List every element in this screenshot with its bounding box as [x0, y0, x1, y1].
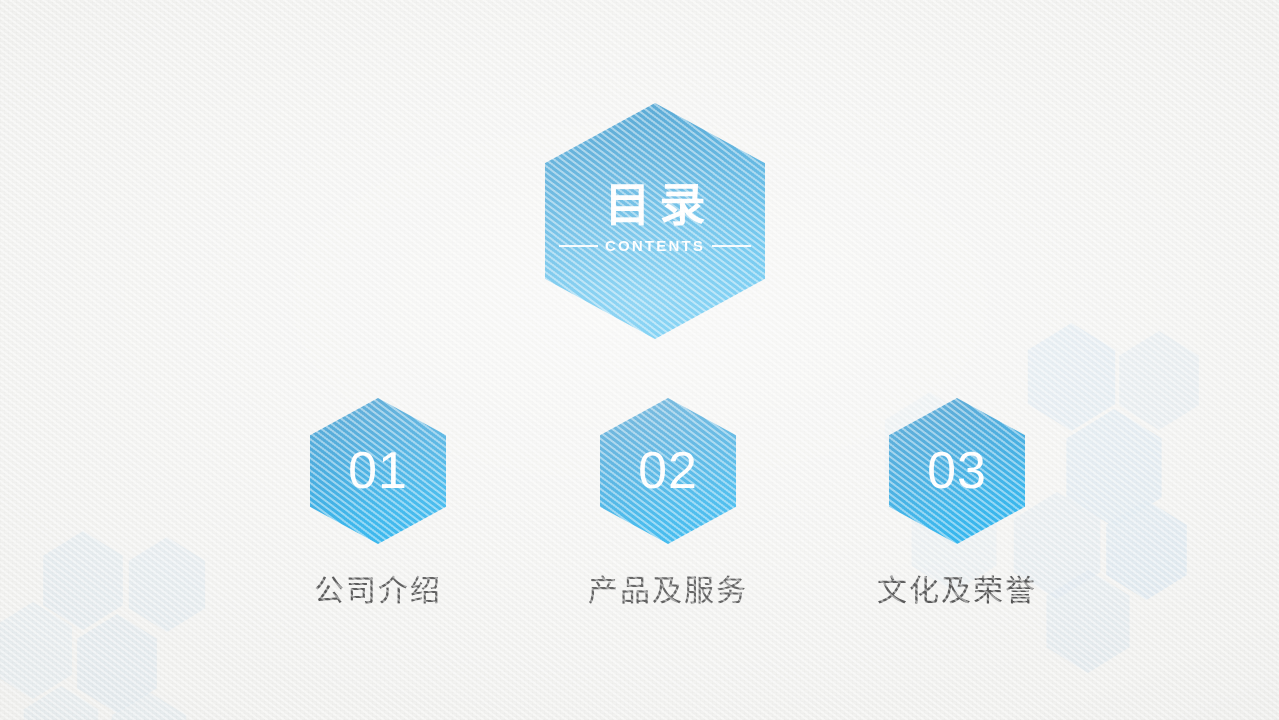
decor-hexagon — [123, 537, 211, 632]
rule-left-icon — [559, 245, 598, 247]
toc-item-03[interactable]: 03 文化及荣誉 — [862, 398, 1052, 610]
rule-right-icon — [712, 245, 751, 247]
toc-item-03-hexagon[interactable]: 03 — [889, 398, 1025, 544]
toc-item-03-label: 文化及荣誉 — [862, 566, 1052, 610]
slide-canvas: 目录 CONTENTS 01 公司介绍 02 产品及服务 03 文化及荣誉 — [0, 0, 1279, 720]
contents-hexagon-content: 目录 CONTENTS — [545, 103, 765, 339]
contents-hexagon[interactable]: 目录 CONTENTS — [545, 103, 765, 339]
toc-item-03-number: 03 — [889, 398, 1025, 544]
toc-item-02-number: 02 — [600, 398, 736, 544]
toc-item-02[interactable]: 02 产品及服务 — [573, 398, 763, 610]
contents-subtitle: CONTENTS — [605, 238, 705, 255]
toc-item-01[interactable]: 01 公司介绍 — [283, 398, 473, 610]
toc-item-01-label: 公司介绍 — [283, 566, 473, 610]
decor-hexagon — [1113, 331, 1205, 430]
toc-item-01-hexagon[interactable]: 01 — [310, 398, 446, 544]
page-title: 目录 — [596, 182, 715, 228]
toc-item-01-number: 01 — [310, 398, 446, 544]
toc-item-02-hexagon[interactable]: 02 — [600, 398, 736, 544]
contents-subtitle-row: CONTENTS — [559, 238, 751, 255]
toc-item-02-label: 产品及服务 — [573, 566, 763, 610]
